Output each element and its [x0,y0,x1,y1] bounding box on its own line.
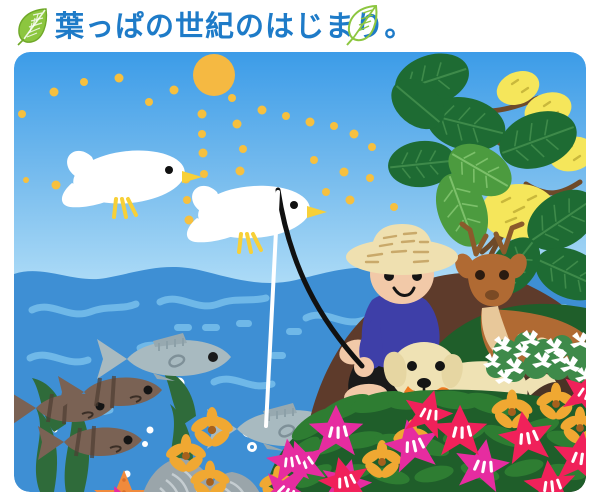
page-title: 葉っぱの世紀のはじまり。 [55,4,345,48]
dog-eye [435,361,445,371]
sun-icon [193,54,235,96]
illustration-page: 葉っぱの世紀のはじまり。 [0,0,600,495]
page-header: 葉っぱの世紀のはじまり。 [0,0,600,52]
scene-canvas [14,52,586,492]
leaf-icon [344,2,380,51]
dog-eye [407,361,417,371]
leaf-icon [16,6,50,51]
fishing-scene-illustration [14,52,586,492]
dog-nose [417,378,431,388]
